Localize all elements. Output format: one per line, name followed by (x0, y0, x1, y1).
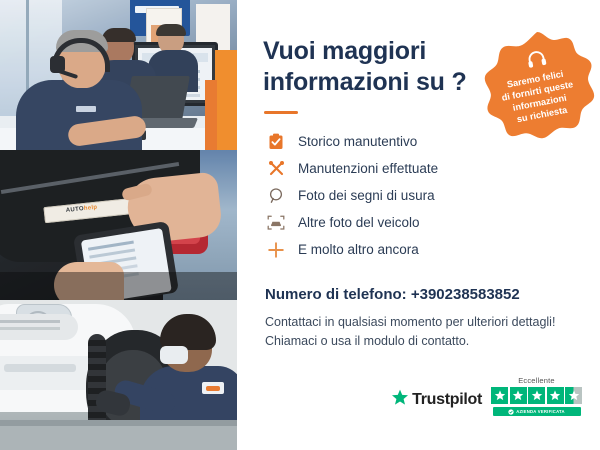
tools-cross-icon (265, 158, 287, 180)
trustpilot-brand-name: Trustpilot (412, 391, 482, 409)
trustpilot-rating-label: Eccellente (518, 376, 555, 385)
list-item-label: Foto dei segni di usura (298, 188, 435, 203)
headline-line-2: informazioni su ? (263, 68, 467, 96)
trustpilot-widget[interactable]: Trustpilot Eccellente (391, 376, 582, 416)
list-item-label: Storico manutentivo (298, 134, 417, 149)
list-item[interactable]: Foto dei segni di usura (265, 182, 578, 209)
body-inspection-photo: AUTOhelp (0, 150, 237, 300)
plus-icon (265, 239, 287, 261)
trustpilot-star-icon (391, 389, 409, 411)
photo-column: AUTOhelp (0, 0, 237, 450)
contact-paragraph-line-2: Chiamaci o usa il modulo di contatto. (265, 334, 469, 348)
promo-page: AUTOhelp Vuoi maggiori informazioni su ? (0, 0, 600, 450)
call-center-photo (0, 0, 237, 150)
star-icon (528, 387, 545, 404)
content-panel: Vuoi maggiori informazioni su ? Storico … (237, 0, 600, 450)
trustpilot-stars (491, 387, 582, 404)
request-info-badge: Saremo felici di fornirti queste informa… (478, 30, 596, 148)
trustpilot-logo: Trustpilot (391, 389, 482, 416)
contact-paragraph: Contattaci in qualsiasi momento per ulte… (265, 313, 578, 352)
list-item[interactable]: E molto altro ancora (265, 236, 578, 263)
mechanic-wheel-photo (0, 300, 237, 450)
headline-line-1: Vuoi maggiori (263, 37, 426, 65)
car-frame-icon (265, 212, 287, 234)
star-icon (547, 387, 564, 404)
contact-paragraph-line-1: Contattaci in qualsiasi momento per ulte… (265, 315, 555, 329)
trustpilot-rating-block: Eccellente (491, 376, 582, 416)
list-item[interactable]: Manutenzioni effettuate (265, 155, 578, 182)
verified-badge-text: AZIENDA VERIFICATA (516, 409, 565, 414)
badge-text-block: Saremo felici di fornirti queste informa… (468, 20, 600, 158)
phone-number-line[interactable]: Numero di telefono: +390238583852 (265, 286, 578, 303)
clipboard-check-icon (265, 131, 287, 153)
half-star-icon (565, 387, 582, 404)
title-underline-divider (264, 111, 298, 114)
list-item-label: E molto altro ancora (298, 242, 419, 257)
magnifier-icon (265, 185, 287, 207)
verified-business-badge: AZIENDA VERIFICATA (493, 407, 581, 416)
list-item-label: Altre foto del veicolo (298, 215, 420, 230)
phone-number[interactable]: +390238583852 (411, 286, 520, 303)
list-item-label: Manutenzioni effettuate (298, 161, 438, 176)
star-icon (510, 387, 527, 404)
phone-label: Numero di telefono: (265, 286, 407, 303)
check-circle-icon (508, 409, 514, 415)
list-item[interactable]: Altre foto del veicolo (265, 209, 578, 236)
star-icon (491, 387, 508, 404)
